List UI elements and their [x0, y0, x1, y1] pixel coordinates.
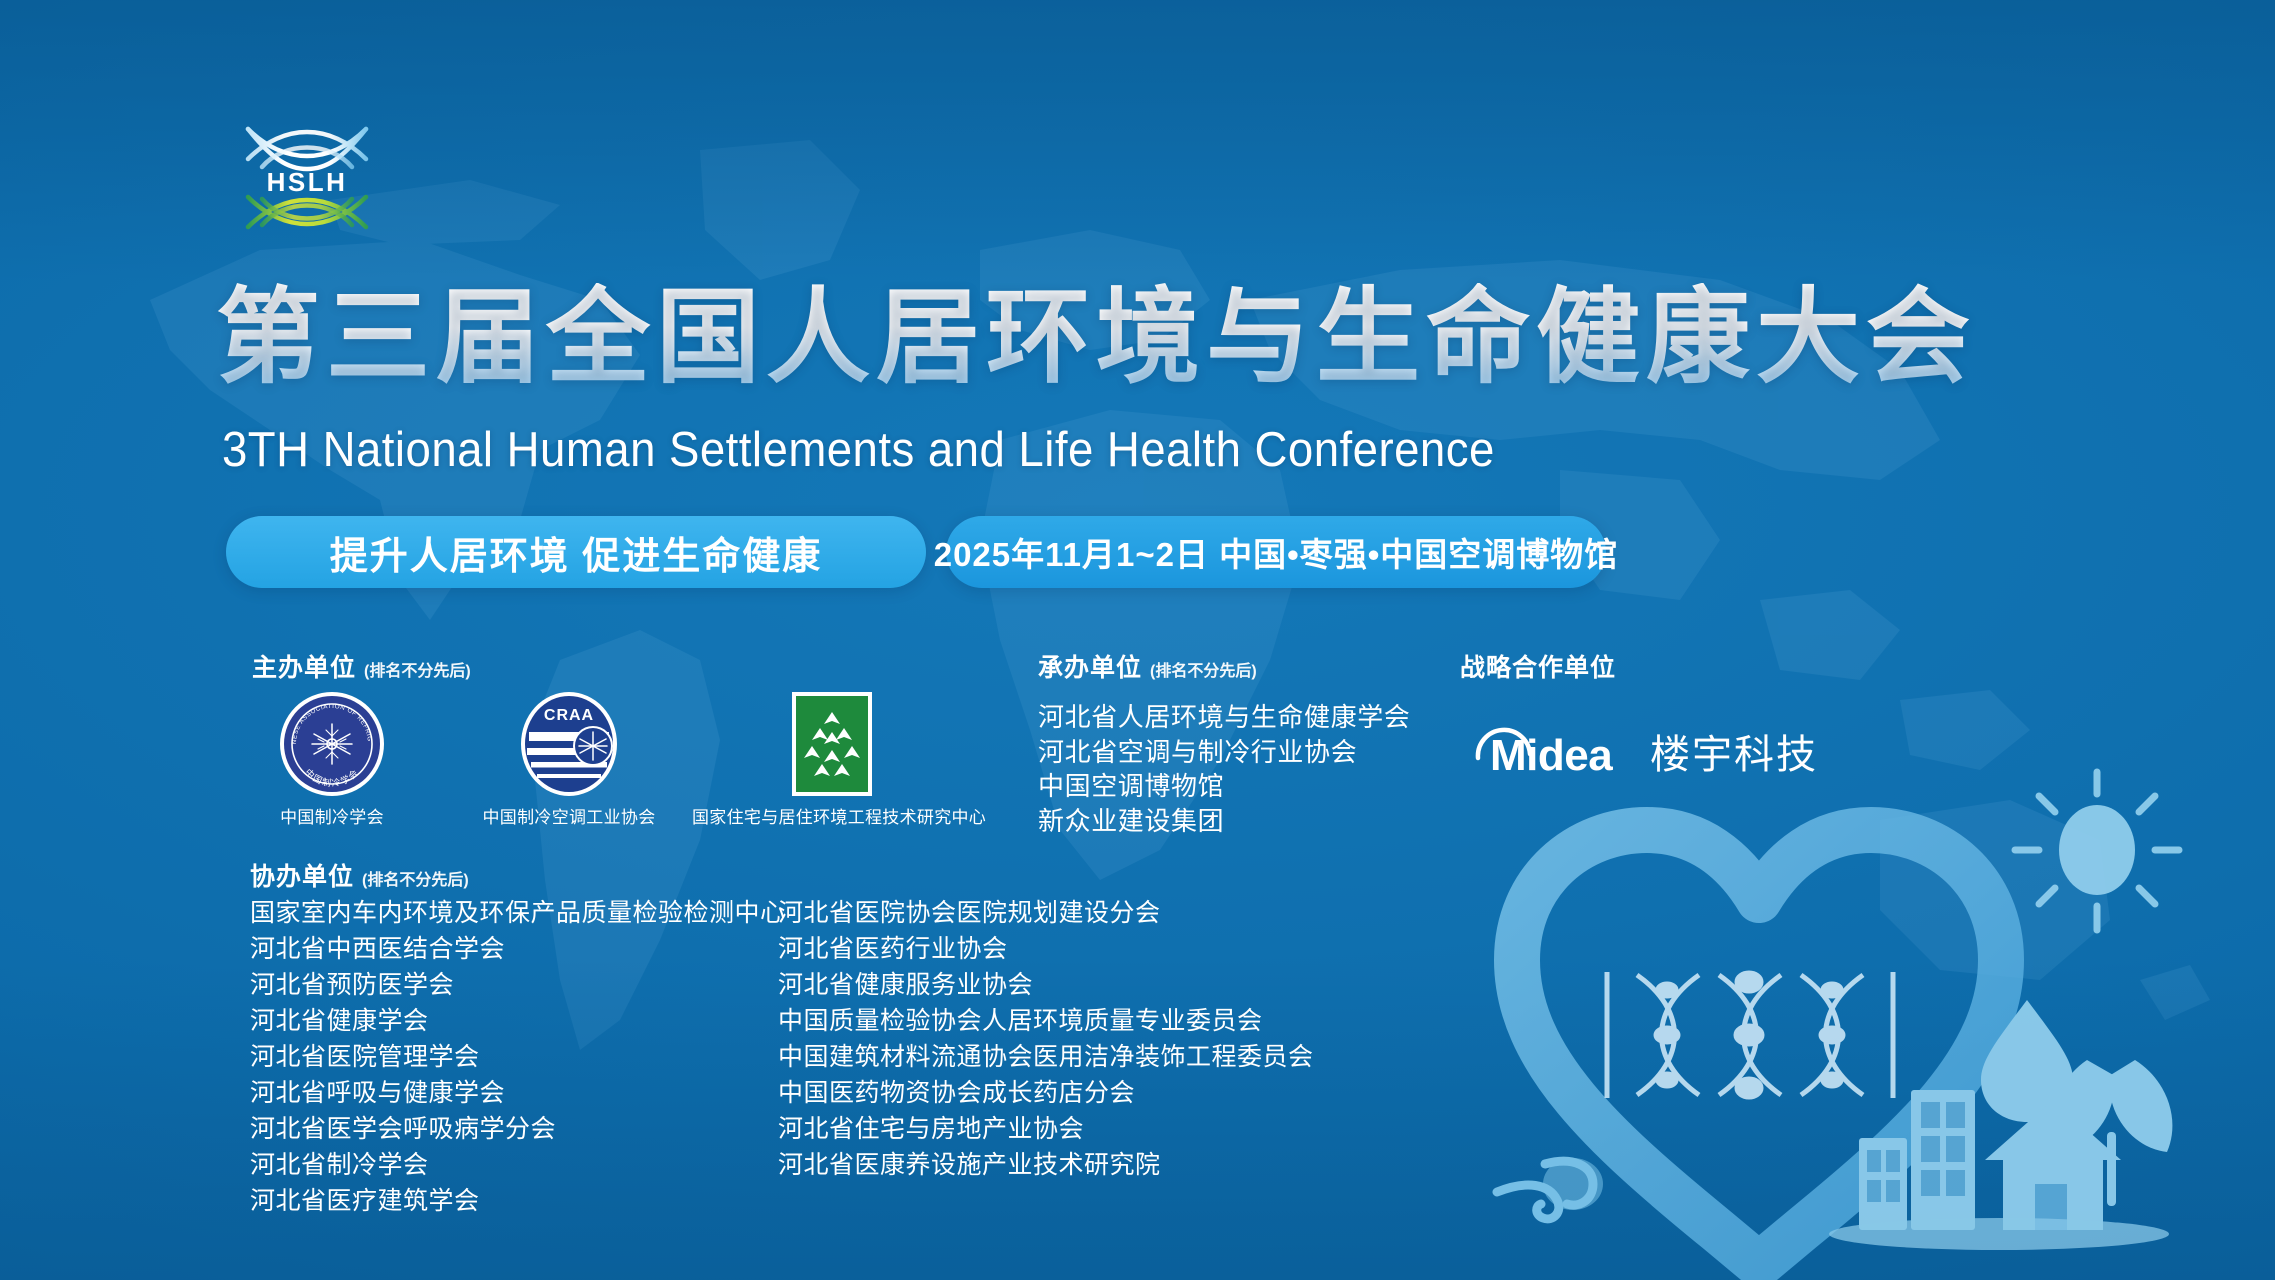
co-organizer-item: 河北省呼吸与健康学会 [250, 1075, 786, 1111]
co-organizer-item: 河北省医康养设施产业技术研究院 [778, 1147, 1314, 1183]
co-organizer-item: 河北省健康学会 [250, 1003, 786, 1039]
co-organizer-item: 河北省中西医结合学会 [250, 931, 786, 967]
co-organizer-item: 河北省医疗建筑学会 [250, 1183, 786, 1219]
decorative-health-illustration [1487, 760, 2267, 1280]
co-organizer-item: 中国质量检验协会人居环境质量专业委员会 [778, 1003, 1314, 1039]
organizer-item-national-center: 国家住宅与居住环境工程技术研究中心 [692, 690, 972, 828]
craa-mark-text: CRAA [544, 707, 594, 724]
chinese-association-of-refrigeration-seal: THE CHINESE ASSOCIATION OF REFRIGERATION… [278, 690, 386, 798]
co-organizer-item: 河北省健康服务业协会 [778, 967, 1314, 1003]
midea-building-technologies-logo: Midea 楼宇科技 [1460, 712, 1820, 784]
hosts-heading: 承办单位 (排名不分先后) [1038, 648, 1257, 684]
host-item: 新众业建设集团 [1038, 804, 1410, 839]
hosts-heading-label: 承办单位 [1038, 648, 1142, 684]
organizer-caption-national-center: 国家住宅与居住环境工程技术研究中心 [692, 803, 972, 828]
co-organizer-item: 河北省医院管理学会 [250, 1039, 786, 1075]
organizer-caption-craa: 中国制冷空调工业协会 [464, 803, 674, 828]
co-organizer-item: 河北省住宅与房地产业协会 [778, 1111, 1314, 1147]
host-item: 中国空调博物馆 [1038, 769, 1410, 804]
co-organizers-heading: 协办单位 (排名不分先后) [250, 857, 469, 893]
strategic-partner-heading-label: 战略合作单位 [1460, 648, 1616, 684]
national-residential-center-logo [790, 690, 874, 798]
hslh-acronym: HSLH [267, 167, 348, 197]
midea-brand-cn: 楼宇科技 [1650, 733, 1818, 777]
strategic-partner-heading: 战略合作单位 [1460, 648, 1616, 684]
host-item: 河北省空调与制冷行业协会 [1038, 735, 1410, 770]
date-venue-pill: 2025年11月1~2日 中国•枣强•中国空调博物馆 [946, 516, 1606, 588]
organizer-item-craa: CRAA 中国制冷空调工业协会 [464, 690, 674, 828]
page-title-cn: 第三届全国人居环境与生命健康大会 [216, 283, 1976, 393]
page-title-en: 3TH National Human Settlements and Life … [222, 424, 1495, 478]
organizers-heading: 主办单位 (排名不分先后) [252, 648, 471, 684]
co-organizers-heading-note: (排名不分先后) [362, 866, 469, 890]
co-organizer-item: 中国建筑材料流通协会医用洁净装饰工程委员会 [778, 1039, 1314, 1075]
conference-poster: HSLH 第三届全国人居环境与生命健康大会 3TH National Human… [0, 0, 2275, 1280]
organizer-item-car: THE CHINESE ASSOCIATION OF REFRIGERATION… [252, 690, 412, 828]
buildings-icon [1859, 1090, 1975, 1230]
midea-logo-wrap: Midea 楼宇科技 [1460, 712, 1820, 784]
midea-brand-en: Midea [1490, 731, 1613, 780]
hosts-list: 河北省人居环境与生命健康学会 河北省空调与制冷行业协会 中国空调博物馆 新众业建… [1038, 700, 1410, 838]
slogan-pill: 提升人居环境 促进生命健康 [226, 516, 926, 588]
hosts-heading-note: (排名不分先后) [1150, 657, 1257, 681]
co-organizer-item: 河北省医学会呼吸病学分会 [250, 1111, 786, 1147]
organizers-heading-label: 主办单位 [252, 648, 356, 684]
co-organizer-item: 河北省预防医学会 [250, 967, 786, 1003]
craa-logo: CRAA [519, 690, 619, 798]
co-organizers-heading-label: 协办单位 [250, 857, 354, 893]
wind-swirl-icon [1497, 1158, 1603, 1219]
organizers-heading-note: (排名不分先后) [364, 657, 471, 681]
co-organizer-item: 国家室内车内环境及环保产品质量检验检测中心 [250, 895, 786, 931]
host-item: 河北省人居环境与生命健康学会 [1038, 700, 1410, 735]
hslh-logo: HSLH [232, 115, 382, 245]
ground-ellipse [1829, 1218, 2169, 1250]
co-organizer-item: 中国医药物资协会成长药店分会 [778, 1075, 1314, 1111]
co-organizers-left-column: 国家室内车内环境及环保产品质量检验检测中心 河北省中西医结合学会 河北省预防医学… [250, 895, 786, 1219]
sun-icon [2015, 772, 2179, 930]
co-organizer-item: 河北省制冷学会 [250, 1147, 786, 1183]
organizer-logo-row: THE CHINESE ASSOCIATION OF REFRIGERATION… [252, 690, 972, 850]
dna-helix [1607, 972, 1893, 1098]
co-organizer-item: 河北省医院协会医院规划建设分会 [778, 895, 1314, 931]
co-organizers-right-column: 河北省医院协会医院规划建设分会 河北省医药行业协会 河北省健康服务业协会 中国质… [778, 895, 1314, 1183]
organizer-caption-car: 中国制冷学会 [252, 803, 412, 828]
co-organizer-item: 河北省医药行业协会 [778, 931, 1314, 967]
